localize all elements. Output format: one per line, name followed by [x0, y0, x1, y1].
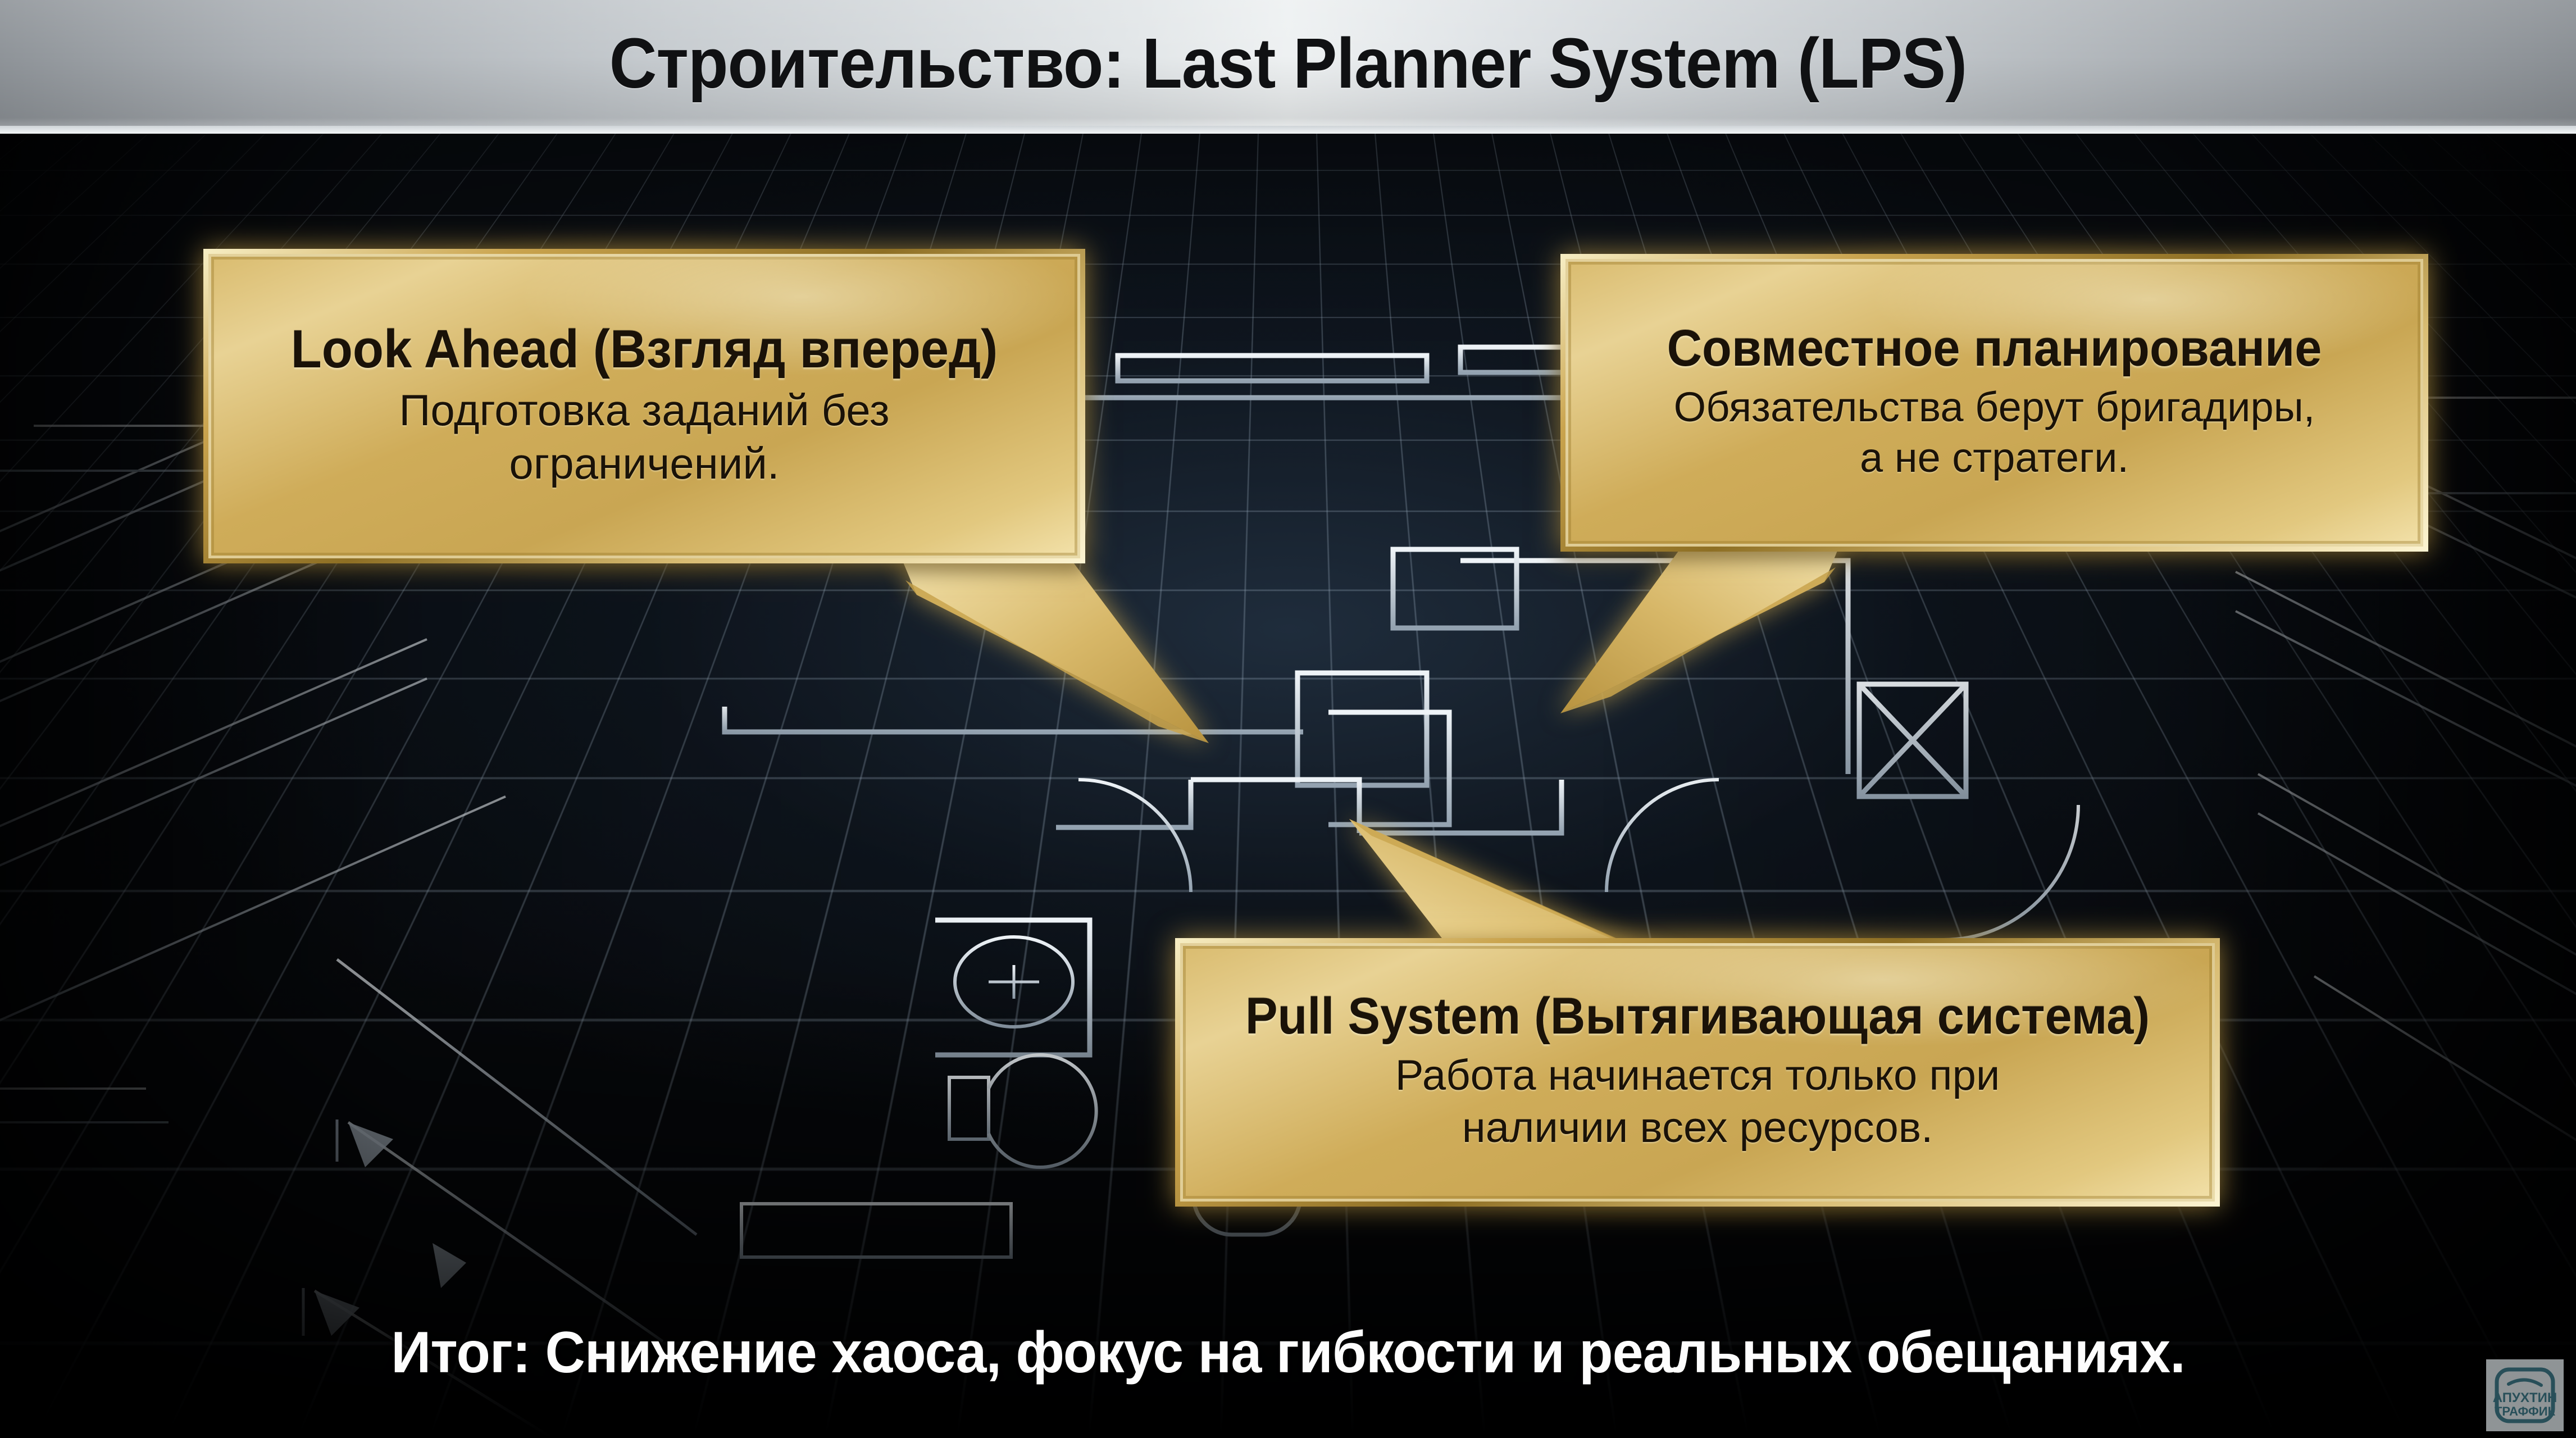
callout-title: Pull System (Вытягивающая система)	[1235, 990, 2161, 1043]
svg-text:ТРАФФИК: ТРАФФИК	[2495, 1404, 2556, 1418]
callout-body-line-2: наличии всех ресурсов.	[1205, 1102, 2190, 1154]
callout-body-line-2: а не стратеги.	[1590, 433, 2398, 483]
callout-box: Совместное планирование Обязательства бе…	[1560, 254, 2428, 552]
page-title: Строительство: Last Planner System (LPS)	[90, 0, 2486, 126]
slide-canvas: Строительство: Last Planner System (LPS)	[0, 0, 2576, 1438]
callout-box: Pull System (Вытягивающая система) Работ…	[1175, 938, 2220, 1207]
callout-pull-system[interactable]: Pull System (Вытягивающая система) Работ…	[1175, 938, 2220, 1207]
callout-look-ahead[interactable]: Look Ahead (Взгляд вперед) Подготовка за…	[203, 249, 1085, 563]
summary-caption: Итог: Снижение хаоса, фокус на гибкости …	[65, 1319, 2512, 1386]
callout-body-line-1: Обязательства берут бригадиры,	[1590, 382, 2398, 433]
callout-title: Совместное планирование	[1614, 322, 2374, 375]
callout-body-line-1: Работа начинается только при	[1205, 1050, 2190, 1102]
callout-title: Look Ahead (Взгляд вперед)	[258, 322, 1031, 377]
callout-box: Look Ahead (Взгляд вперед) Подготовка за…	[203, 249, 1085, 563]
callout-collaborative-planning[interactable]: Совместное планирование Обязательства бе…	[1560, 254, 2428, 552]
callout-body-line-2: ограничений.	[233, 437, 1055, 490]
title-bar: Строительство: Last Planner System (LPS)	[0, 0, 2576, 134]
watermark-logo: АПУХТИН ТРАФФИК	[2486, 1359, 2564, 1431]
svg-text:АПУХТИН: АПУХТИН	[2493, 1390, 2557, 1405]
callout-body-line-1: Подготовка заданий без	[233, 384, 1055, 437]
